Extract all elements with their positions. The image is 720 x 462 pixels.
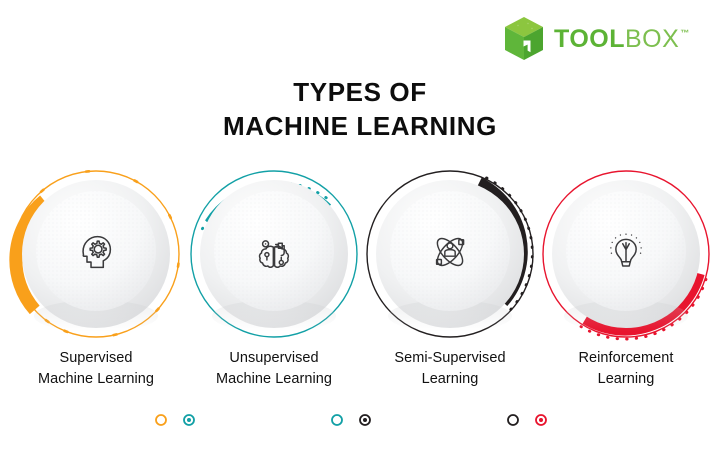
node-reinforcement[interactable]: Reinforcement Learning — [538, 166, 714, 416]
node-unsupervised[interactable]: Unsupervised Machine Learning — [186, 166, 362, 416]
label-line-1: Semi-Supervised — [356, 348, 544, 369]
label-line-1: Supervised — [2, 348, 190, 369]
toolbox-logo: TOOLBOX™ — [503, 14, 693, 64]
node-label-supervised: Supervised Machine Learning — [2, 348, 190, 390]
title-line-1: TYPES OF — [0, 76, 720, 110]
brain-plug-icon — [186, 166, 362, 342]
atom-person-icon — [362, 166, 538, 342]
logo-text-bold: TOOL — [554, 25, 625, 54]
disc-reinforcement — [538, 166, 714, 342]
node-supervised[interactable]: Supervised Machine Learning — [8, 166, 184, 416]
label-line-1: Unsupervised — [180, 348, 368, 369]
toolbox-wordmark: TOOLBOX™ — [554, 25, 688, 54]
node-label-semi-supervised: Semi-Supervised Learning — [356, 348, 544, 390]
label-line-2: Learning — [356, 369, 544, 390]
label-line-2: Learning — [532, 369, 720, 390]
trademark-symbol: ™ — [680, 28, 689, 38]
title-line-2: MACHINE LEARNING — [0, 110, 720, 144]
node-label-reinforcement: Reinforcement Learning — [532, 348, 720, 390]
disc-supervised — [8, 166, 184, 342]
connector-2 — [328, 409, 374, 431]
node-semi-supervised[interactable]: Semi-Supervised Learning — [362, 166, 538, 416]
page-title: TYPES OF MACHINE LEARNING — [0, 76, 720, 144]
node-label-unsupervised: Unsupervised Machine Learning — [180, 348, 368, 390]
disc-unsupervised — [186, 166, 362, 342]
lightbulb-icon — [538, 166, 714, 342]
connector-3 — [504, 409, 550, 431]
label-line-1: Reinforcement — [532, 348, 720, 369]
head-gear-icon — [8, 166, 184, 342]
ml-types-diagram: Supervised Machine Learning — [0, 166, 720, 416]
disc-semi-supervised — [362, 166, 538, 342]
label-line-2: Machine Learning — [2, 369, 190, 390]
toolbox-cube-icon — [503, 16, 545, 62]
connector-1 — [152, 409, 198, 431]
label-line-2: Machine Learning — [180, 369, 368, 390]
logo-text-light: BOX — [625, 25, 679, 54]
